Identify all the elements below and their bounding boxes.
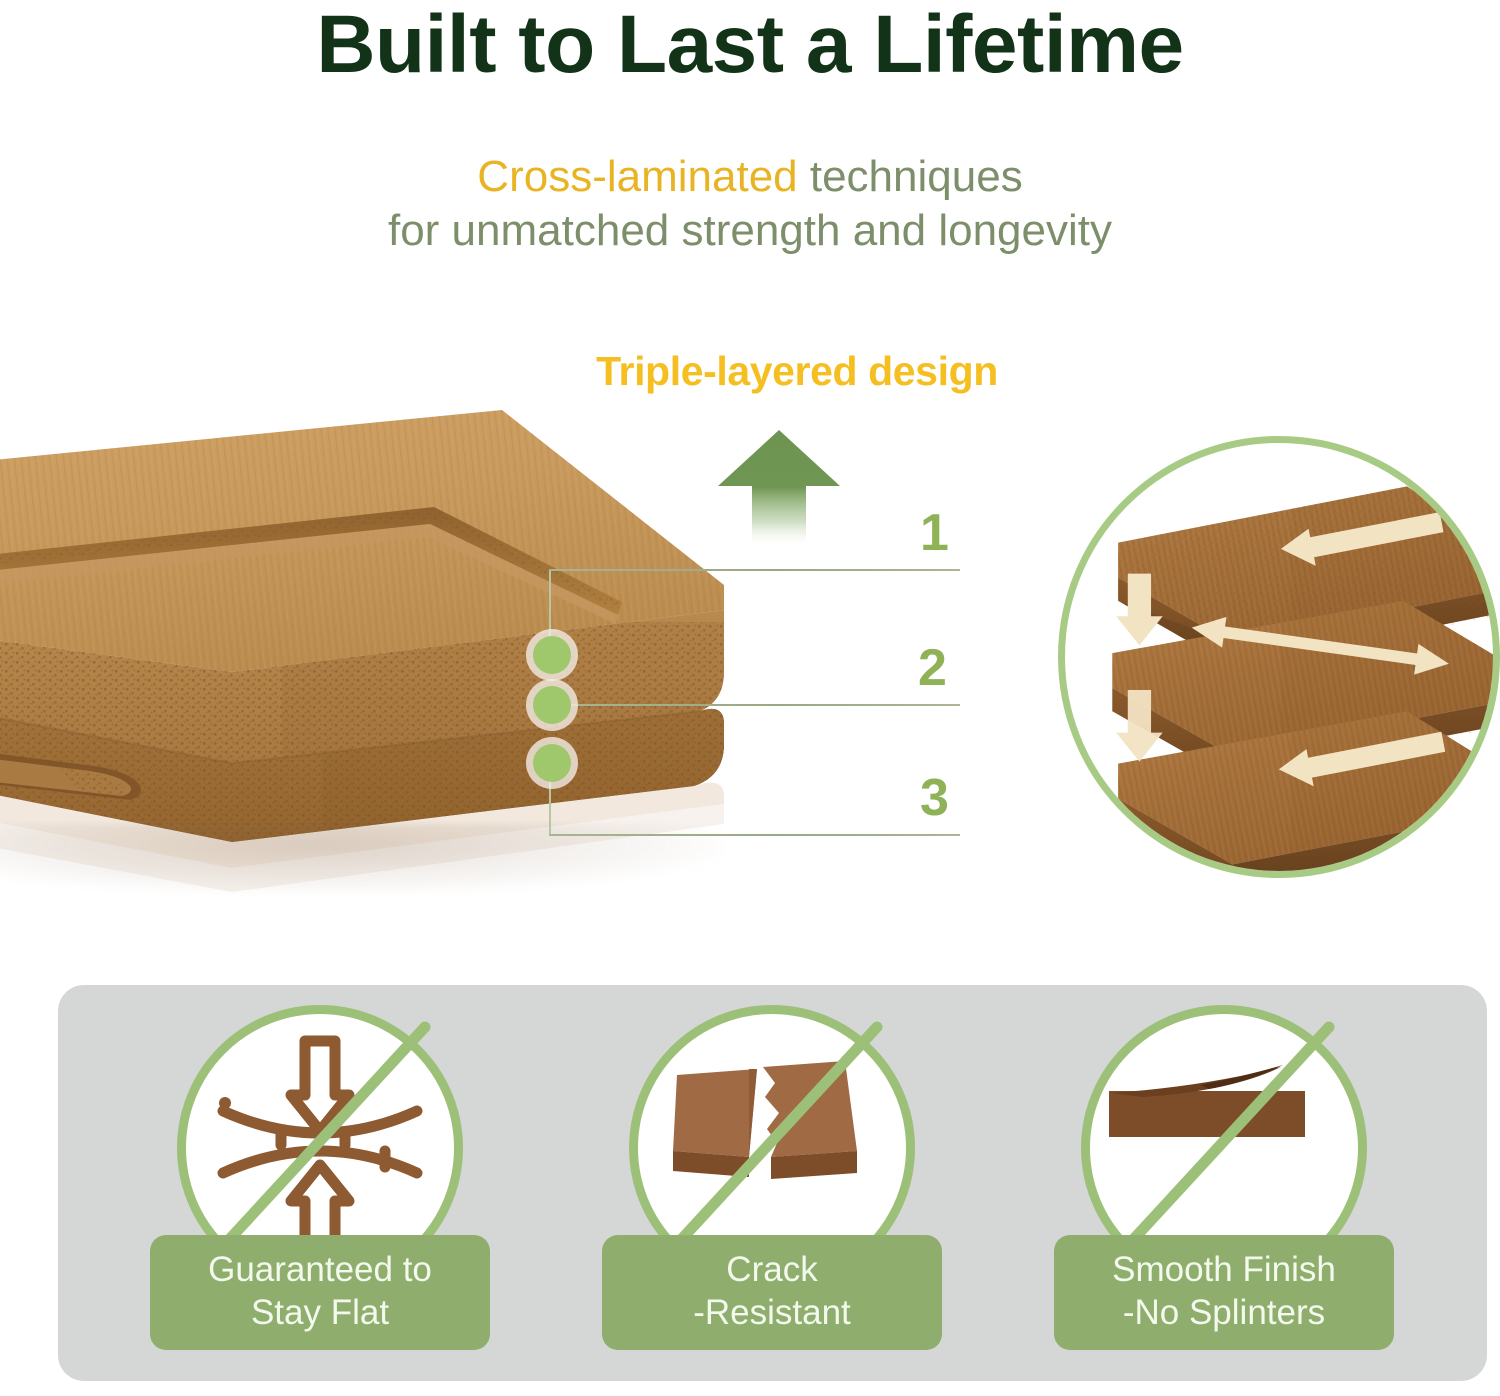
subtitle-rest: techniques bbox=[798, 152, 1023, 201]
feature-card-crack-resistant: Crack -Resistant bbox=[562, 999, 982, 1369]
layer-callout-1-line bbox=[549, 569, 960, 571]
feature-label-smooth-finish: Smooth Finish -No Splinters bbox=[1054, 1235, 1394, 1350]
subtitle: Cross-laminated techniques for unmatched… bbox=[0, 150, 1500, 257]
feature-label-crack-resistant: Crack -Resistant bbox=[602, 1235, 942, 1350]
cross-laminated-layers-diagram bbox=[1058, 436, 1500, 878]
infographic-stage: Built to Last a Lifetime Cross-laminated… bbox=[0, 0, 1500, 1396]
feature-label-stay-flat: Guaranteed to Stay Flat bbox=[150, 1235, 490, 1350]
layer-callout-1-dot bbox=[533, 636, 571, 674]
layer-callout-3-dot bbox=[533, 744, 571, 782]
layer-callout-2-dot bbox=[533, 686, 571, 724]
subtitle-line-2: for unmatched strength and longevity bbox=[0, 204, 1500, 258]
layer-callout-2-number: 2 bbox=[918, 642, 947, 694]
subtitle-highlight: Cross-laminated bbox=[477, 152, 797, 201]
layer-stack-graphic bbox=[1058, 436, 1500, 878]
feature-panel: Guaranteed to Stay Flat Crack -Resistant bbox=[58, 985, 1487, 1381]
layer-callout-2-line bbox=[560, 704, 960, 706]
feature-card-stay-flat: Guaranteed to Stay Flat bbox=[110, 999, 530, 1369]
bamboo-board-illustration bbox=[0, 372, 742, 932]
layer-callout-3-number: 3 bbox=[920, 772, 949, 824]
layer-callout-3-line bbox=[549, 834, 960, 836]
page-title: Built to Last a Lifetime bbox=[0, 2, 1500, 88]
layer-callout-1-number: 1 bbox=[920, 507, 949, 559]
feature-card-smooth-finish: Smooth Finish -No Splinters bbox=[1014, 999, 1434, 1369]
